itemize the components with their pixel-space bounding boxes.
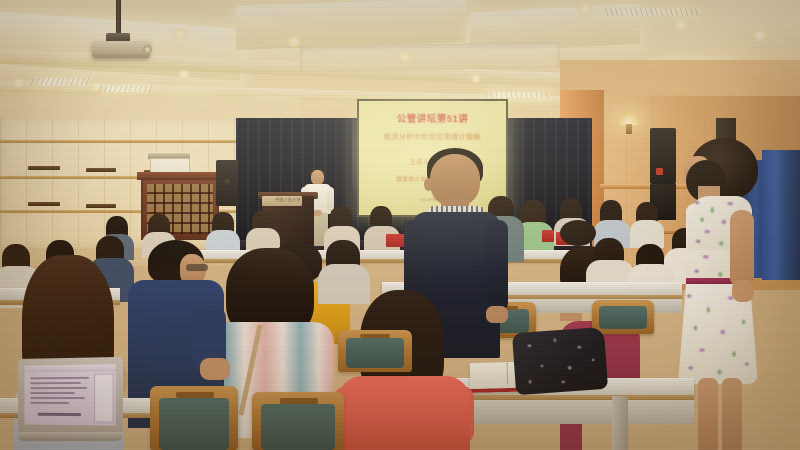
loudspeaker-right-icon (650, 128, 676, 184)
linear-strip-light (99, 86, 153, 92)
linear-strip-light (605, 8, 700, 16)
arm (730, 210, 754, 288)
ceiling-panel (300, 41, 560, 72)
hand (732, 280, 754, 302)
chair (252, 392, 344, 450)
chair (592, 300, 654, 334)
projector-mount-rod (116, 0, 121, 34)
leg-right (722, 378, 742, 450)
linear-strip-light (485, 92, 548, 98)
wall-trim (0, 140, 262, 143)
recessed-downlight (12, 78, 26, 88)
hair-bun (560, 220, 596, 246)
ear (424, 178, 433, 191)
slide-subtitle: 经济分析中如何应用统计指标 (359, 132, 506, 142)
lecture-hall-photograph: 公管讲坛第51讲 经济分析中如何应用统计指标 主讲人：方志琴 国家统计局统计科学… (0, 0, 800, 450)
laptop-screen[interactable] (25, 364, 116, 426)
recessed-downlight (398, 52, 412, 62)
laptop-base (18, 432, 122, 441)
wall-accent (28, 166, 60, 170)
recessed-downlight (178, 70, 190, 79)
podium-sign-text: 中国人民大学 (262, 197, 314, 203)
recessed-downlight (576, 2, 594, 15)
hand-right (486, 306, 508, 323)
handbag (512, 327, 608, 395)
ceiling-recess (236, 0, 466, 50)
recessed-downlight (752, 30, 768, 41)
hands (200, 358, 230, 380)
linear-strip-light (30, 78, 93, 85)
recessed-downlight (286, 36, 302, 47)
ceiling-projector-icon (92, 41, 150, 58)
chair (338, 330, 412, 372)
wall-accent (86, 204, 116, 208)
desk-leg (612, 396, 628, 450)
projector-lens-icon (143, 45, 152, 54)
red-table-sign (542, 230, 554, 242)
leg-left (698, 378, 718, 450)
recessed-downlight (672, 18, 690, 31)
speaker-cone-icon (222, 176, 232, 186)
slide-title: 公管讲坛第51讲 (359, 111, 506, 125)
arm-right (486, 220, 508, 312)
glasses-icon (186, 264, 208, 271)
wall-accent (86, 168, 116, 172)
document-toolbar (25, 364, 116, 372)
recessed-downlight (470, 74, 482, 83)
wall-sconce-base (626, 124, 632, 134)
laptop[interactable] (16, 358, 122, 448)
recessed-downlight (172, 28, 188, 39)
podium-plate: 中国人民大学 (262, 196, 302, 206)
laptop-lid (18, 357, 123, 435)
speaker-logo-icon (656, 168, 663, 175)
chair (150, 386, 238, 450)
document-side-pane (94, 373, 114, 422)
presenter-head (311, 170, 324, 185)
wall-accent (28, 202, 60, 206)
torso (338, 376, 470, 450)
